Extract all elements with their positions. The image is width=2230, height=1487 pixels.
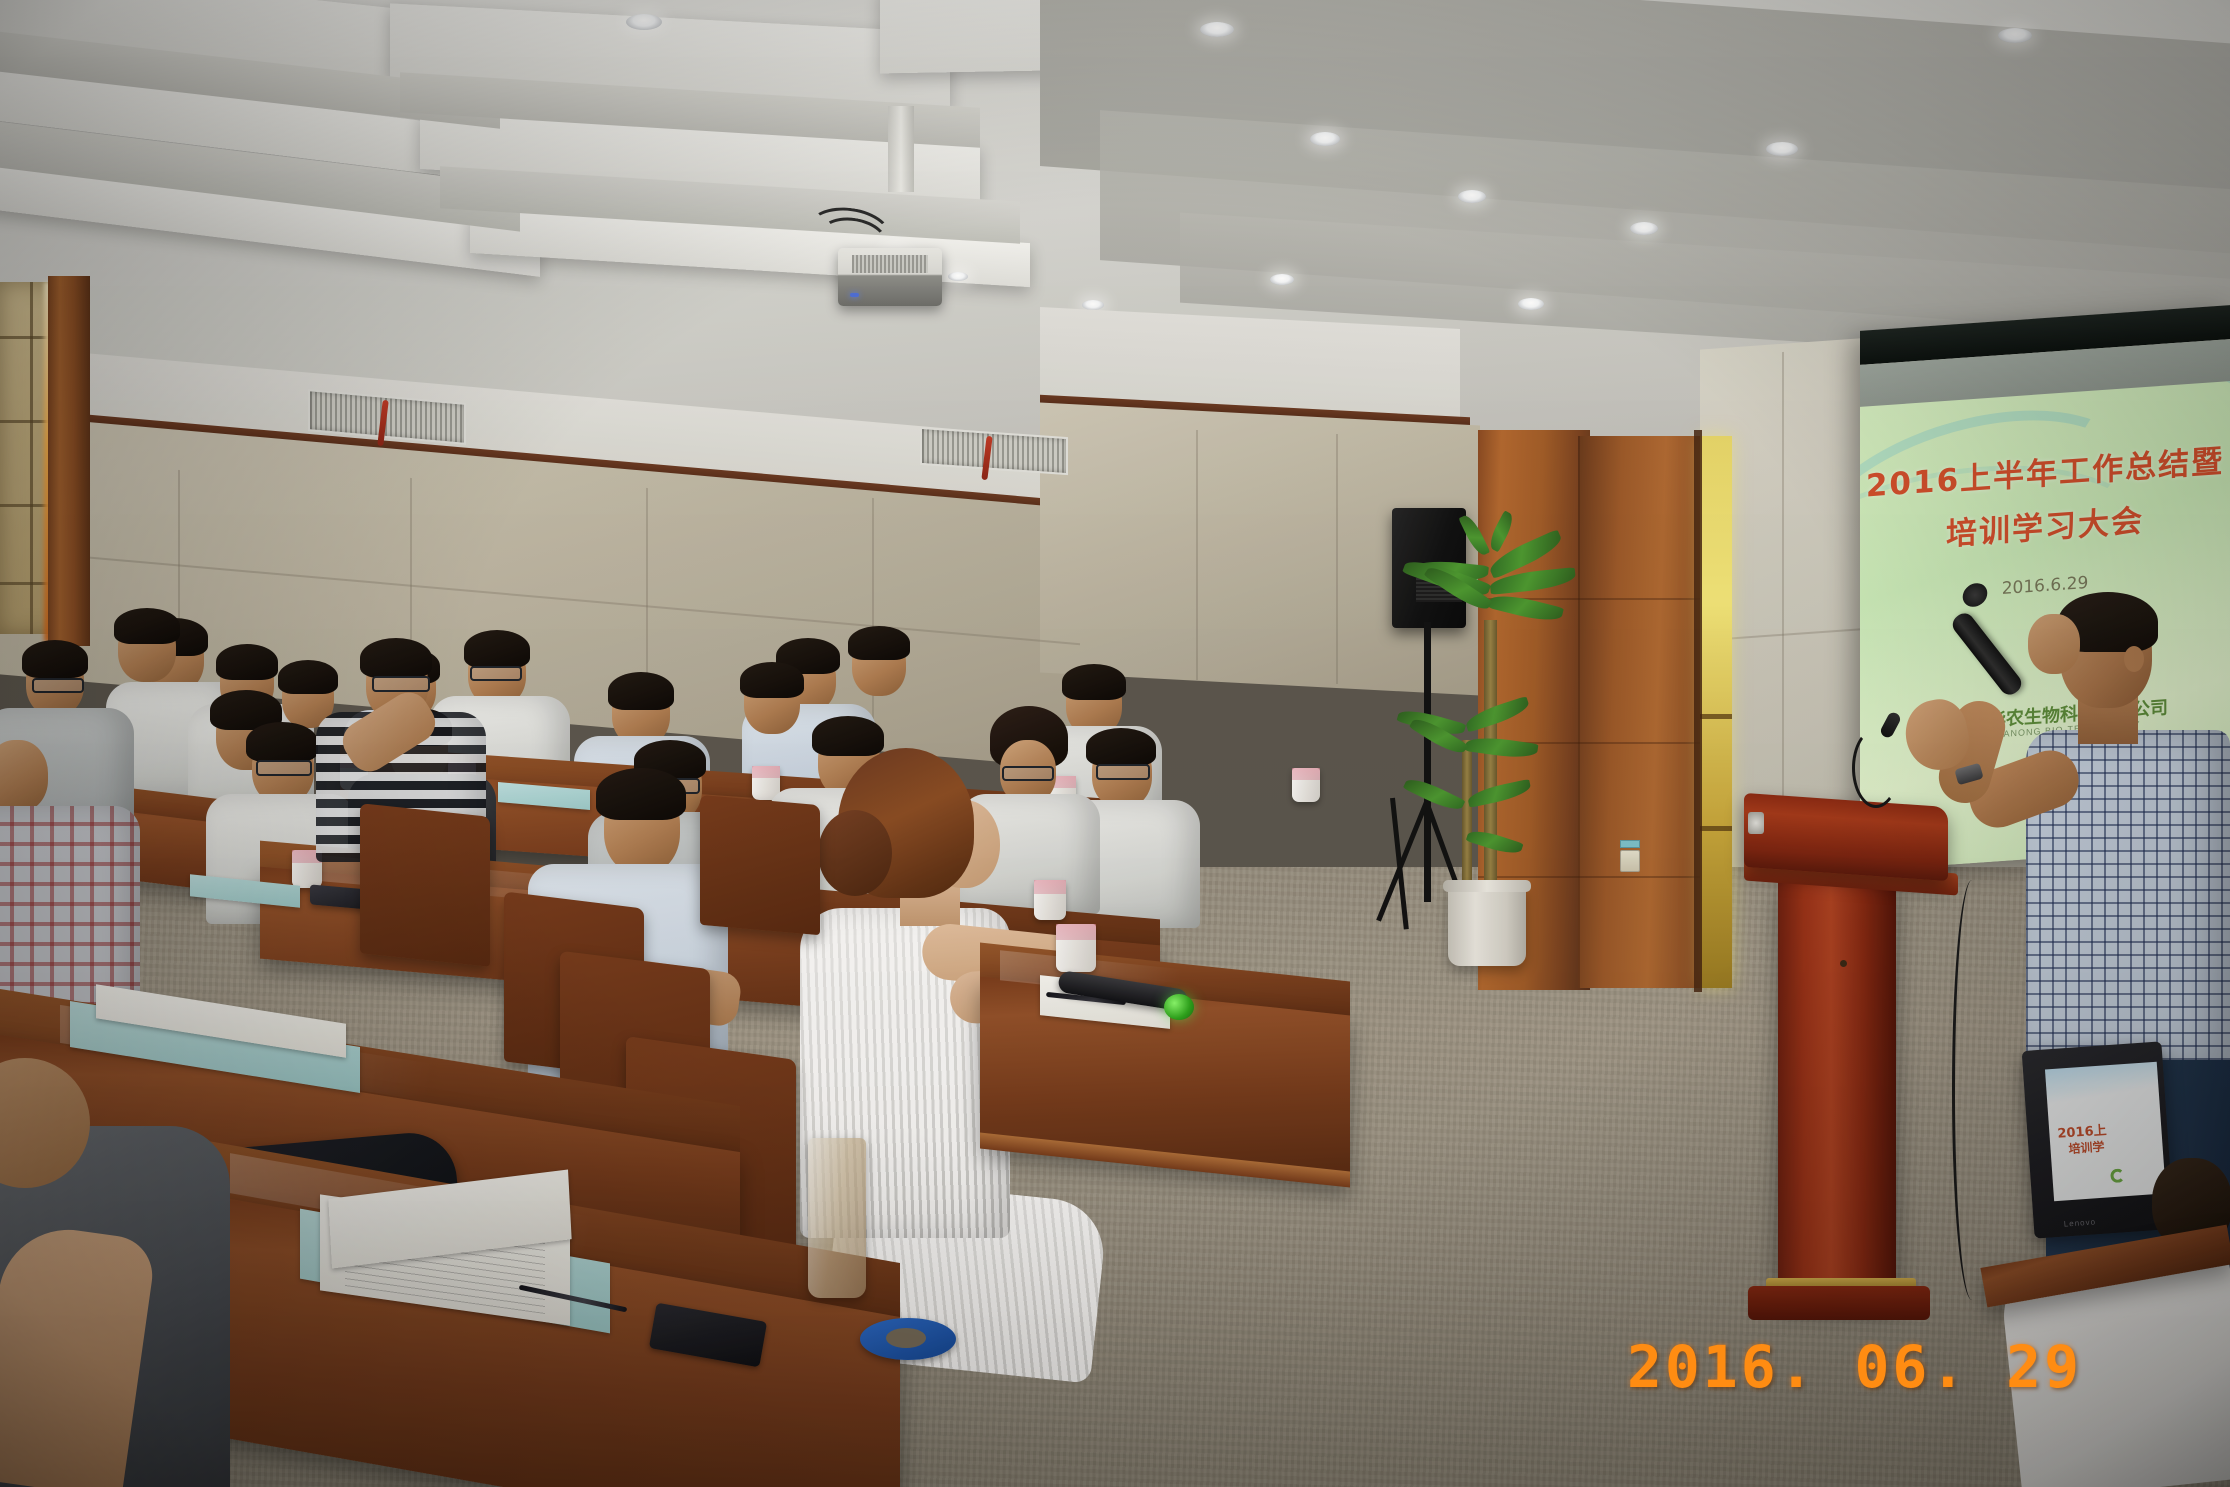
attendee-hair xyxy=(278,660,338,694)
woman-hair-bun xyxy=(818,810,892,896)
podium-column xyxy=(1778,882,1896,1302)
paper-cup xyxy=(1056,924,1096,972)
outlet-plate-top xyxy=(1620,840,1640,848)
attendee-hair xyxy=(812,716,884,756)
chair[interactable] xyxy=(700,795,820,935)
conference-room-photo: 2016上半年工作总结暨 培训学习大会 2016.6.29 金华农生物科技有限公… xyxy=(0,0,2230,1487)
attendee-hair xyxy=(608,672,674,710)
laptop-screen: 2016上 培训学 xyxy=(2045,1062,2166,1201)
plant-stem xyxy=(1484,620,1497,892)
pot-rim xyxy=(1443,880,1531,892)
laptop-slide-logo-icon xyxy=(2110,1168,2125,1183)
eyeglasses xyxy=(372,676,430,692)
mic-indicator-light xyxy=(1164,994,1194,1020)
eyeglasses xyxy=(1096,764,1150,780)
podium-base xyxy=(1748,1286,1930,1320)
presenter-right-hand xyxy=(2028,614,2080,674)
podium-cable xyxy=(1952,880,1992,1300)
ceiling-downlight xyxy=(1630,222,1658,235)
projector-mount xyxy=(888,106,914,192)
ceiling-downlight xyxy=(948,272,968,281)
blue-plastic-item-hole xyxy=(886,1328,926,1348)
podium xyxy=(1744,793,1948,881)
eyeglasses xyxy=(1002,766,1054,781)
podium-emblem xyxy=(1748,812,1764,834)
eyeglasses xyxy=(470,666,522,681)
paper-cup xyxy=(1034,880,1066,920)
paper-cup xyxy=(1292,768,1320,802)
ceiling-downlight xyxy=(1458,190,1486,203)
laptop-brand-label: Lenovo xyxy=(2063,1217,2096,1228)
attendee-hair xyxy=(1086,728,1156,766)
ceiling-downlight xyxy=(1200,22,1234,37)
left-pillar xyxy=(48,276,90,646)
laptop-slide-line2: 培训学 xyxy=(2068,1138,2105,1157)
plant-pot xyxy=(1448,884,1526,966)
ceiling-downlight xyxy=(1270,274,1294,285)
attendee-hair xyxy=(22,640,88,678)
power-outlet[interactable] xyxy=(1620,850,1640,872)
illuminated-gold-panel xyxy=(1700,436,1732,988)
eyeglasses xyxy=(32,678,84,693)
attendee-hair xyxy=(596,768,686,820)
attendee-head xyxy=(0,740,48,812)
ceiling-downlight xyxy=(1518,298,1544,310)
plant-leaf xyxy=(1403,774,1466,816)
camera-date-stamp: 2016. 06. 29 xyxy=(1627,1333,2082,1401)
attendee-hair xyxy=(246,722,318,762)
ceiling-downlight xyxy=(1998,28,2032,43)
wood-pillar-back xyxy=(1578,436,1706,988)
attendee-hair xyxy=(848,626,910,660)
ceiling-downlight xyxy=(626,14,662,30)
attendee-hair xyxy=(740,662,804,698)
speaker-stand-pole xyxy=(1424,622,1431,902)
attendee-hair xyxy=(114,608,180,644)
eyeglasses xyxy=(256,760,312,776)
presenter-ear xyxy=(2124,646,2144,672)
water-tumbler xyxy=(808,1138,866,1298)
attendee-hair xyxy=(464,630,530,668)
ceiling-downlight xyxy=(1310,132,1340,146)
attendee-hair xyxy=(1062,664,1126,700)
chair[interactable] xyxy=(360,803,490,967)
attendee-hair xyxy=(360,638,432,678)
podium-latch xyxy=(1840,960,1847,967)
ceiling-downlight xyxy=(1766,142,1798,156)
plant-stem xyxy=(1462,740,1472,892)
attendee-hair xyxy=(216,644,278,680)
projector-status-led xyxy=(850,293,859,297)
gooseneck-mic-stem xyxy=(1852,728,1900,808)
